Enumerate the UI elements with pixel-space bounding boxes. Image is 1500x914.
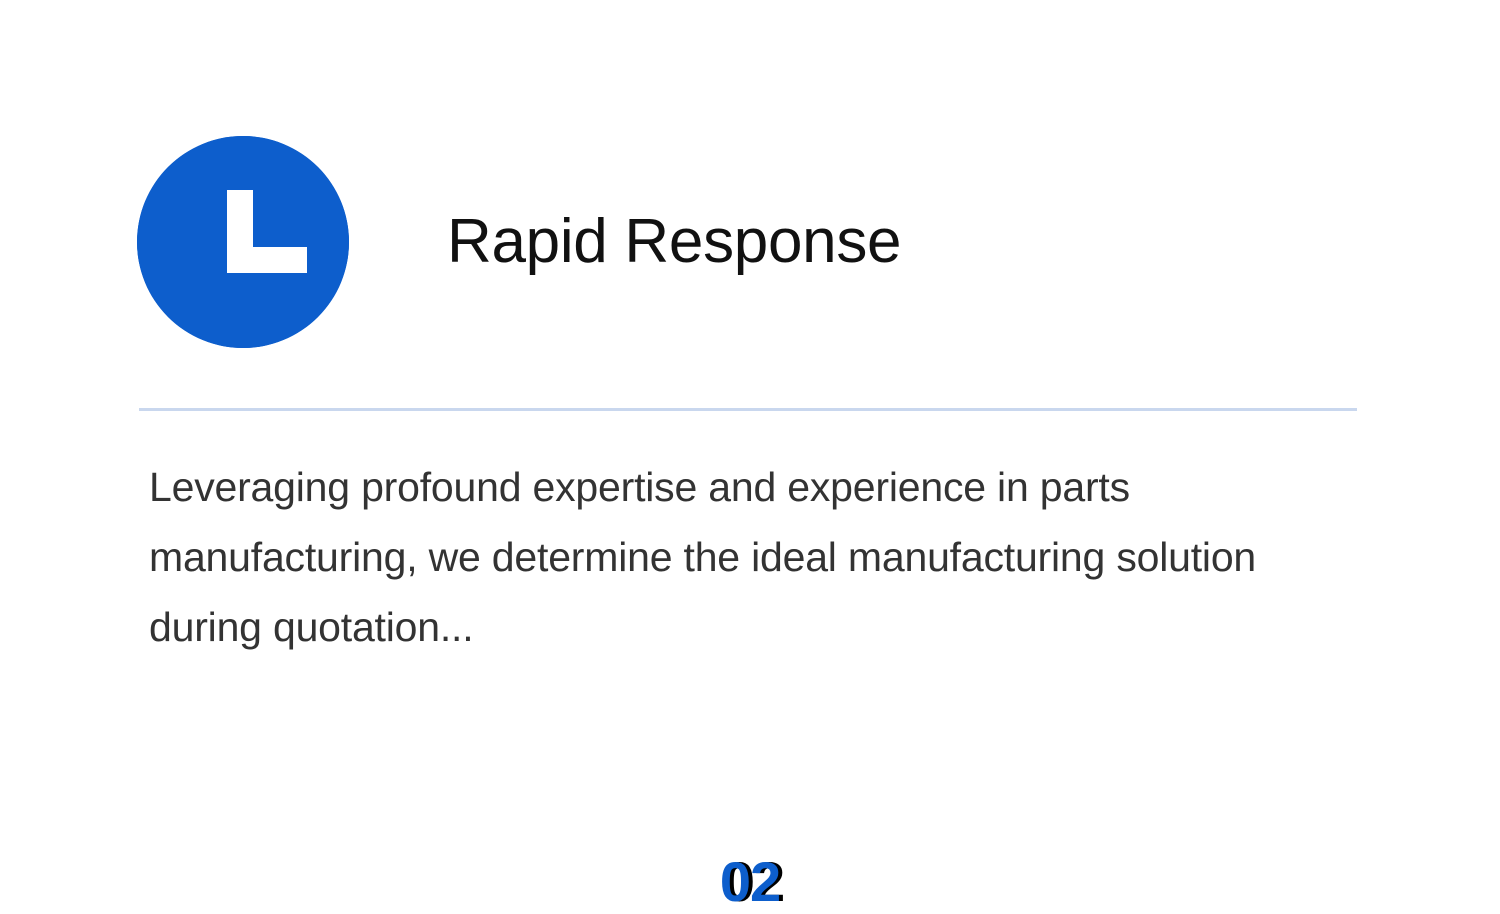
clock-icon — [137, 136, 349, 348]
page-title: Rapid Response — [349, 208, 901, 276]
section-divider — [139, 408, 1357, 411]
body-paragraph: Leveraging profound expertise and experi… — [149, 452, 1329, 662]
page-number-shadow: 02 — [694, 850, 814, 914]
card-header: Rapid Response — [137, 136, 1357, 348]
page-number-value: 02 — [690, 850, 810, 914]
slide-canvas: Rapid Response Leveraging profound exper… — [0, 0, 1500, 906]
page-number-stack: 02 02 — [690, 850, 810, 914]
page-number: 02 02 — [0, 844, 1500, 914]
